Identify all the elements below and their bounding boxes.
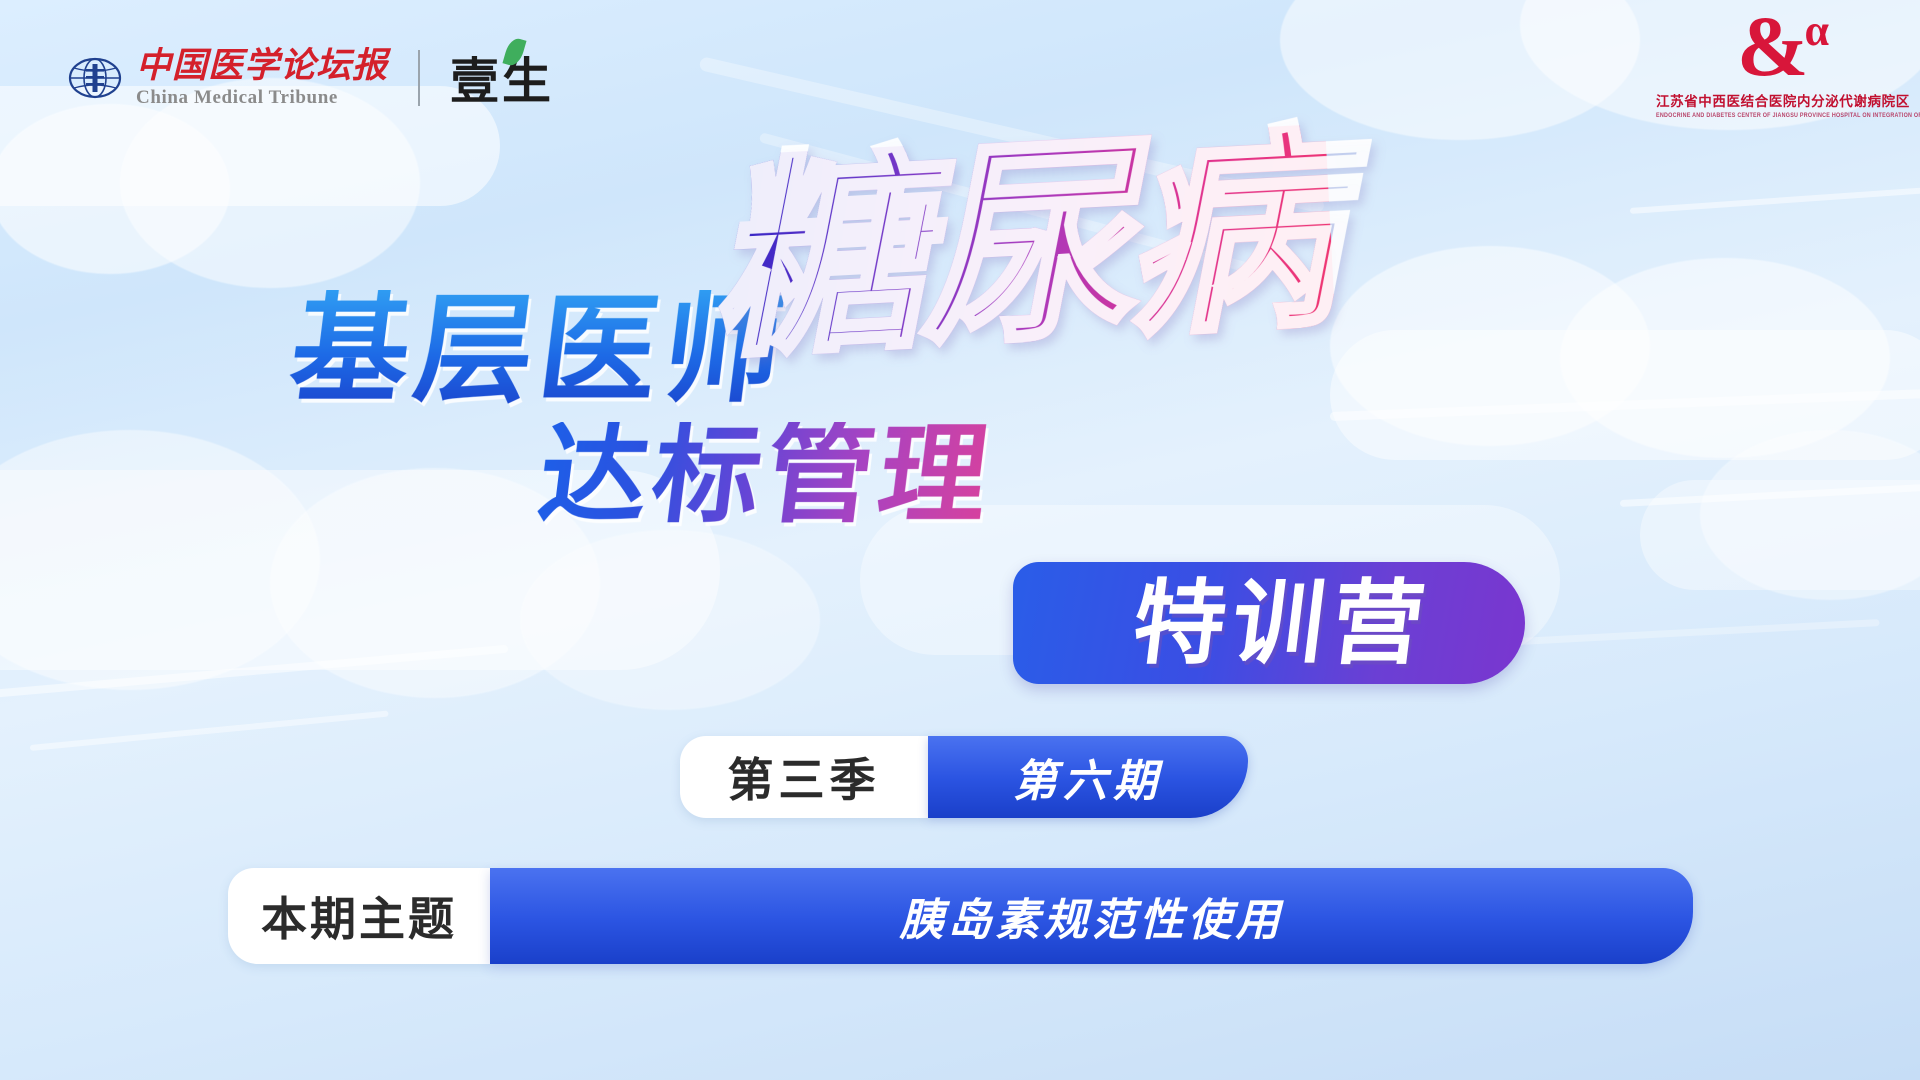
episode-label: 第六期: [1013, 745, 1163, 809]
theme-value-chip[interactable]: 胰岛素规范性使用: [490, 868, 1693, 964]
ampersand-mark: &α: [1737, 6, 1825, 88]
cloud-streak: [30, 711, 389, 751]
theme-label-text: 本期主题: [261, 883, 457, 949]
theme-bar: 本期主题 胰岛素规范性使用: [228, 868, 1693, 964]
theme-value-text: 胰岛素规范性使用: [900, 884, 1284, 948]
alpha-glyph: α: [1805, 6, 1826, 55]
globe-icon: [68, 56, 122, 100]
ampersand-glyph: &: [1737, 0, 1805, 94]
sub-brand-block: 壹生: [450, 42, 554, 113]
poster-canvas: 中国医学论坛报 China Medical Tribune 壹生 &α 江苏省中…: [0, 0, 1920, 1080]
headline-calligraphy-diabetes: 糖尿病: [705, 124, 1336, 371]
brand-logo-right[interactable]: &α 江苏省中西医结合医院内分泌代谢病院区 ENDOCRINE AND DIAB…: [1656, 6, 1906, 119]
season-badge[interactable]: 第三季: [680, 736, 928, 818]
headline-block: 基层医师 糖尿病 达标管理 特训营: [0, 150, 1920, 670]
headline-ribbon-label: 特训营: [1065, 569, 1499, 679]
theme-label-chip: 本期主题: [228, 868, 490, 964]
brand-logo-left[interactable]: 中国医学论坛报 China Medical Tribune 壹生: [68, 42, 554, 113]
brand-name-en: China Medical Tribune: [136, 88, 338, 107]
headline-subject: 达标管理: [533, 422, 998, 530]
logo-divider: [418, 50, 420, 106]
brand-name-block: 中国医学论坛报 China Medical Tribune: [136, 48, 388, 107]
season-episode-row: 第三季 第六期: [680, 736, 1248, 818]
brand-name-cn: 中国医学论坛报: [136, 48, 388, 83]
episode-badge[interactable]: 第六期: [928, 736, 1248, 818]
hospital-name-en: ENDOCRINE AND DIABETES CENTER OF JIANGSU…: [1656, 112, 1906, 119]
headline-line-2: 达标管理: [540, 422, 992, 530]
season-label: 第三季: [728, 744, 881, 810]
